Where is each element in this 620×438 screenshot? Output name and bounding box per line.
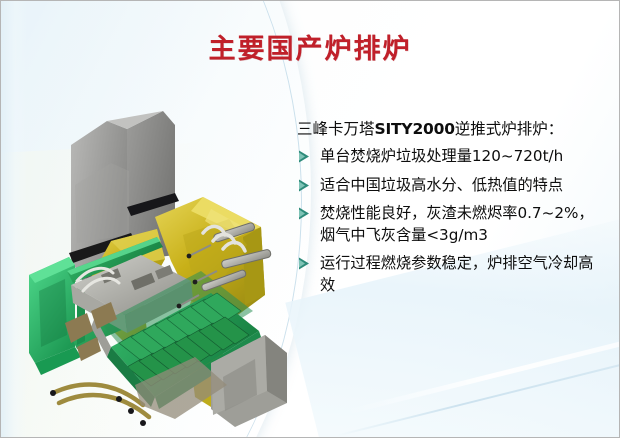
arrow-right-icon [298, 150, 310, 163]
list-item: 适合中国垃圾高水分、低热值的特点 [297, 175, 597, 197]
lead-prefix: 三峰卡万塔 [297, 120, 375, 138]
arrow-right-icon [298, 207, 310, 220]
slide-title: 主要国产炉排炉 [1, 27, 619, 66]
grate-incinerator-illustration [15, 85, 297, 429]
list-item: 焚烧性能良好，灰渣未燃烬率0.7~2%，烟气中飞灰含量<3g/m3 [297, 203, 597, 246]
slide: 主要国产炉排炉 [0, 0, 620, 438]
lower-piping-group [53, 384, 149, 417]
lead-suffix: 逆推式炉排炉： [455, 120, 564, 138]
list-item-text: 运行过程燃烧参数稳定，炉排空气冷却高效 [320, 254, 593, 294]
list-item-text: 单台焚烧炉垃圾处理量120~720t/h [320, 147, 563, 165]
lead-paragraph: 三峰卡万塔SITY2000逆推式炉排炉： [297, 117, 597, 141]
list-item-text: 焚烧性能良好，灰渣未燃烬率0.7~2%，烟气中飞灰含量<3g/m3 [320, 204, 594, 244]
list-item: 运行过程燃烧参数稳定，炉排空气冷却高效 [297, 253, 597, 296]
arrow-right-icon [298, 179, 310, 192]
lead-emphasis: SITY2000 [375, 120, 455, 138]
arrow-right-icon [298, 257, 310, 270]
list-item: 单台焚烧炉垃圾处理量120~720t/h [297, 146, 597, 168]
content-text-block: 三峰卡万塔SITY2000逆推式炉排炉： 单台焚烧炉垃圾处理量120~720t/… [297, 117, 597, 303]
bullet-list: 单台焚烧炉垃圾处理量120~720t/h 适合中国垃圾高水分、低热值的特点 焚烧… [297, 146, 597, 296]
list-item-text: 适合中国垃圾高水分、低热值的特点 [320, 176, 563, 194]
